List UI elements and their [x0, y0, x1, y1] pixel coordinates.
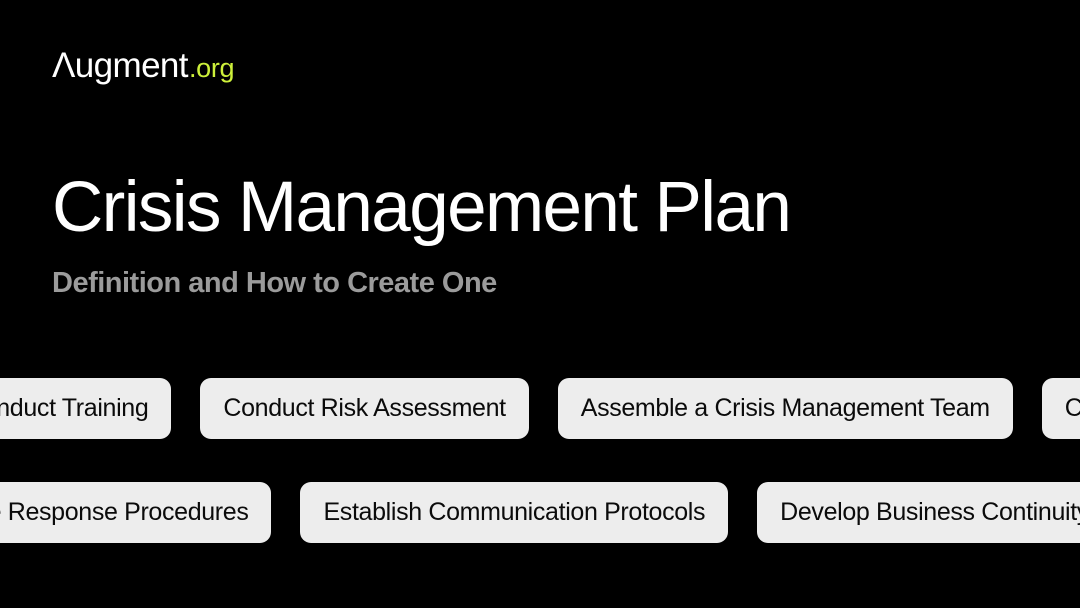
chip-assemble-a-crisis-management-team[interactable]: Assemble a Crisis Management Team	[558, 378, 1013, 439]
chip-row-2: Define Response Procedures Establish Com…	[0, 482, 1080, 543]
hero-section: Crisis Management Plan Definition and Ho…	[52, 172, 1052, 300]
chip-define-response-procedures[interactable]: Define Response Procedures	[0, 482, 271, 543]
logo-lambda-icon: Λ	[52, 48, 75, 83]
chip-conduct-drills[interactable]: Conduct Drills	[1042, 378, 1080, 439]
chip-develop-business-continuity[interactable]: Develop Business Continuity	[757, 482, 1080, 543]
site-logo[interactable]: Λugment.org	[52, 48, 234, 83]
chip-carousel: Conduct Training Conduct Risk Assessment…	[0, 378, 1080, 543]
chip-row-1: Conduct Training Conduct Risk Assessment…	[0, 378, 1080, 439]
page-subtitle: Definition and How to Create One	[52, 268, 1052, 300]
chip-conduct-training[interactable]: Conduct Training	[0, 378, 171, 439]
logo-name: ugment	[75, 48, 188, 83]
chip-conduct-risk-assessment[interactable]: Conduct Risk Assessment	[200, 378, 528, 439]
logo-tld: .org	[189, 55, 234, 82]
page-title: Crisis Management Plan	[52, 172, 1052, 244]
chip-establish-communication-protocols[interactable]: Establish Communication Protocols	[300, 482, 728, 543]
